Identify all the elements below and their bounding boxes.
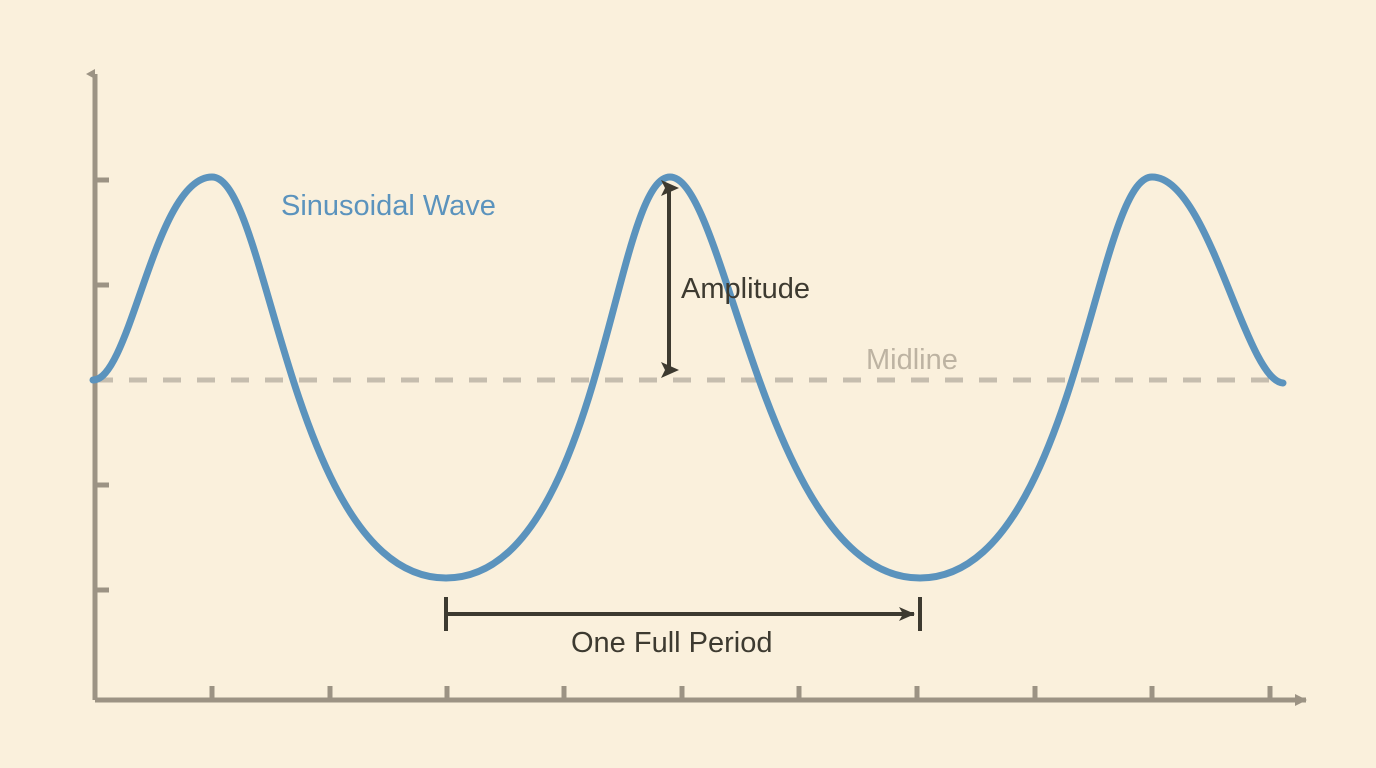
period-measure-arrow [446, 597, 920, 631]
one-full-period-label: One Full Period [571, 629, 773, 658]
y-axis [95, 74, 109, 700]
amplitude-label: Amplitude [681, 275, 810, 304]
sine-wave-diagram: Sinusoidal Wave Amplitude Midline One Fu… [0, 0, 1376, 768]
midline-label: Midline [866, 346, 958, 375]
x-axis [95, 686, 1306, 700]
sinusoidal-wave-label: Sinusoidal Wave [281, 192, 496, 221]
